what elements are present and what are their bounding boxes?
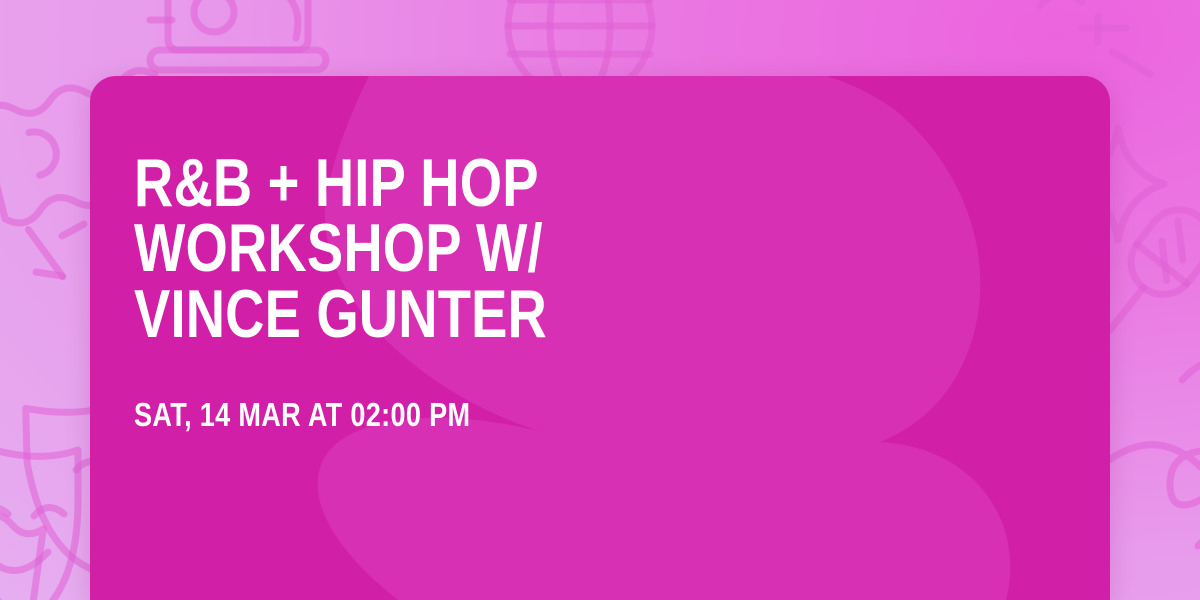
- card-content: R&B + Hip Hop Workshop w/ Vince Gunter S…: [134, 76, 1034, 600]
- event-title: R&B + Hip Hop Workshop w/ Vince Gunter: [134, 151, 798, 347]
- event-date-time: Sat, 14 Mar at 02:00 PM: [134, 398, 470, 431]
- turntable-icon: [150, 0, 326, 70]
- event-card[interactable]: R&B + Hip Hop Workshop w/ Vince Gunter S…: [90, 76, 1110, 600]
- event-banner: R&B + Hip Hop Workshop w/ Vince Gunter S…: [0, 0, 1200, 600]
- confetti-icon: [1006, 0, 1150, 74]
- ticket-icon: [0, 513, 44, 600]
